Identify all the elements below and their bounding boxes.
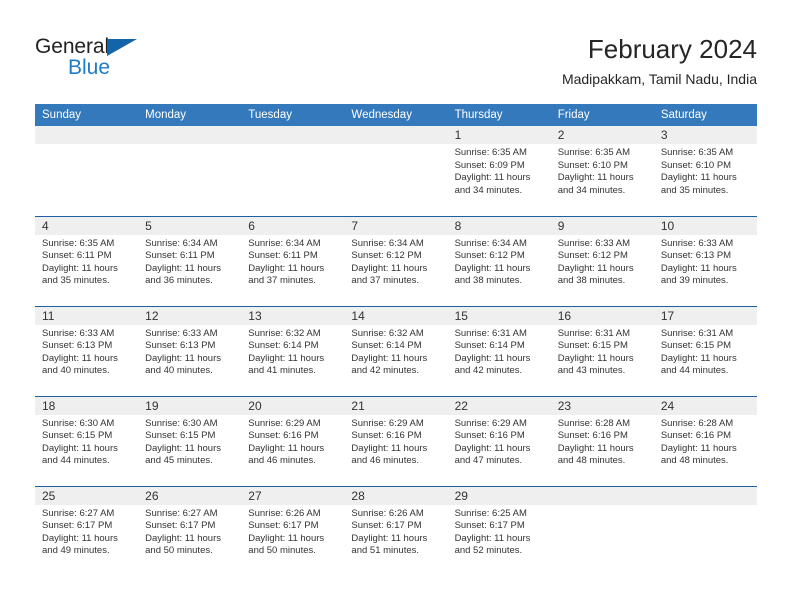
calendar-day-cell[interactable]: 22Sunrise: 6:29 AMSunset: 6:16 PMDayligh… (448, 396, 551, 486)
day-detail-sunset: Sunset: 6:17 PM (42, 520, 133, 533)
day-number: 28 (344, 487, 447, 505)
day-details: Sunrise: 6:34 AMSunset: 6:12 PMDaylight:… (344, 235, 447, 288)
day-details: Sunrise: 6:35 AMSunset: 6:09 PMDaylight:… (448, 144, 551, 197)
calendar-day-cell[interactable]: 19Sunrise: 6:30 AMSunset: 6:15 PMDayligh… (138, 396, 241, 486)
day-detail-sunset: Sunset: 6:17 PM (455, 520, 546, 533)
calendar-day-cell[interactable]: 11Sunrise: 6:33 AMSunset: 6:13 PMDayligh… (35, 306, 138, 396)
day-detail-daylight1: Daylight: 11 hours (661, 172, 752, 185)
calendar-table: SundayMondayTuesdayWednesdayThursdayFrid… (35, 104, 757, 576)
page-subtitle: Madipakkam, Tamil Nadu, India (562, 69, 757, 89)
day-details: Sunrise: 6:34 AMSunset: 6:12 PMDaylight:… (448, 235, 551, 288)
day-detail-daylight1: Daylight: 11 hours (351, 353, 442, 366)
day-detail-daylight1: Daylight: 11 hours (248, 533, 339, 546)
calendar-page: General Blue February 2024 Madipakkam, T… (0, 0, 792, 612)
day-detail-daylight1: Daylight: 11 hours (42, 533, 133, 546)
day-number: 5 (138, 217, 241, 235)
day-detail-daylight2: and 44 minutes. (661, 365, 752, 378)
calendar-day-cell[interactable]: 9Sunrise: 6:33 AMSunset: 6:12 PMDaylight… (551, 216, 654, 306)
day-details: Sunrise: 6:28 AMSunset: 6:16 PMDaylight:… (654, 415, 757, 468)
day-detail-daylight2: and 51 minutes. (351, 545, 442, 558)
day-details: Sunrise: 6:33 AMSunset: 6:13 PMDaylight:… (138, 325, 241, 378)
calendar-cell-empty (241, 126, 344, 216)
day-number: 10 (654, 217, 757, 235)
day-detail-daylight1: Daylight: 11 hours (558, 263, 649, 276)
weekday-header-thursday: Thursday (448, 104, 551, 126)
day-details: Sunrise: 6:30 AMSunset: 6:15 PMDaylight:… (35, 415, 138, 468)
calendar-day-cell[interactable]: 24Sunrise: 6:28 AMSunset: 6:16 PMDayligh… (654, 396, 757, 486)
day-number: 15 (448, 307, 551, 325)
day-detail-sunrise: Sunrise: 6:29 AM (455, 418, 546, 431)
day-number: 4 (35, 217, 138, 235)
day-details: Sunrise: 6:29 AMSunset: 6:16 PMDaylight:… (344, 415, 447, 468)
day-number (241, 126, 344, 144)
calendar-day-cell[interactable]: 28Sunrise: 6:26 AMSunset: 6:17 PMDayligh… (344, 486, 447, 576)
day-detail-daylight2: and 42 minutes. (351, 365, 442, 378)
day-detail-daylight2: and 46 minutes. (351, 455, 442, 468)
day-detail-daylight1: Daylight: 11 hours (145, 353, 236, 366)
day-detail-daylight1: Daylight: 11 hours (42, 353, 133, 366)
day-detail-daylight2: and 52 minutes. (455, 545, 546, 558)
day-detail-sunset: Sunset: 6:12 PM (558, 250, 649, 263)
day-detail-sunrise: Sunrise: 6:33 AM (42, 328, 133, 341)
day-details: Sunrise: 6:35 AMSunset: 6:11 PMDaylight:… (35, 235, 138, 288)
day-detail-sunrise: Sunrise: 6:31 AM (455, 328, 546, 341)
day-number: 25 (35, 487, 138, 505)
calendar-week-row: 1Sunrise: 6:35 AMSunset: 6:09 PMDaylight… (35, 126, 757, 216)
calendar-cell-empty (344, 126, 447, 216)
day-detail-daylight2: and 38 minutes. (558, 275, 649, 288)
day-detail-daylight1: Daylight: 11 hours (145, 533, 236, 546)
day-detail-daylight1: Daylight: 11 hours (351, 533, 442, 546)
day-detail-sunrise: Sunrise: 6:34 AM (145, 238, 236, 251)
day-detail-daylight2: and 48 minutes. (661, 455, 752, 468)
day-detail-sunrise: Sunrise: 6:34 AM (248, 238, 339, 251)
day-detail-daylight1: Daylight: 11 hours (248, 443, 339, 456)
day-number (138, 126, 241, 144)
calendar-day-cell[interactable]: 27Sunrise: 6:26 AMSunset: 6:17 PMDayligh… (241, 486, 344, 576)
day-detail-daylight2: and 44 minutes. (42, 455, 133, 468)
day-detail-sunset: Sunset: 6:12 PM (351, 250, 442, 263)
day-detail-sunset: Sunset: 6:11 PM (248, 250, 339, 263)
calendar-day-cell[interactable]: 1Sunrise: 6:35 AMSunset: 6:09 PMDaylight… (448, 126, 551, 216)
day-detail-sunset: Sunset: 6:13 PM (661, 250, 752, 263)
day-detail-daylight1: Daylight: 11 hours (558, 443, 649, 456)
day-detail-daylight1: Daylight: 11 hours (145, 263, 236, 276)
day-detail-sunrise: Sunrise: 6:32 AM (248, 328, 339, 341)
day-detail-sunrise: Sunrise: 6:30 AM (145, 418, 236, 431)
day-number: 6 (241, 217, 344, 235)
day-detail-daylight2: and 40 minutes. (42, 365, 133, 378)
calendar-day-cell[interactable]: 7Sunrise: 6:34 AMSunset: 6:12 PMDaylight… (344, 216, 447, 306)
day-detail-sunset: Sunset: 6:12 PM (455, 250, 546, 263)
day-detail-daylight2: and 35 minutes. (42, 275, 133, 288)
weekday-header-sunday: Sunday (35, 104, 138, 126)
day-detail-sunrise: Sunrise: 6:25 AM (455, 508, 546, 521)
calendar-day-cell[interactable]: 17Sunrise: 6:31 AMSunset: 6:15 PMDayligh… (654, 306, 757, 396)
day-number: 11 (35, 307, 138, 325)
day-detail-sunset: Sunset: 6:16 PM (351, 430, 442, 443)
day-number: 3 (654, 126, 757, 144)
day-detail-daylight2: and 39 minutes. (661, 275, 752, 288)
calendar-day-cell[interactable]: 2Sunrise: 6:35 AMSunset: 6:10 PMDaylight… (551, 126, 654, 216)
day-detail-daylight1: Daylight: 11 hours (558, 353, 649, 366)
calendar-day-cell[interactable]: 12Sunrise: 6:33 AMSunset: 6:13 PMDayligh… (138, 306, 241, 396)
day-detail-daylight2: and 47 minutes. (455, 455, 546, 468)
day-number: 22 (448, 397, 551, 415)
day-number: 14 (344, 307, 447, 325)
calendar-week-row: 11Sunrise: 6:33 AMSunset: 6:13 PMDayligh… (35, 306, 757, 396)
day-detail-sunrise: Sunrise: 6:26 AM (248, 508, 339, 521)
day-detail-sunset: Sunset: 6:11 PM (42, 250, 133, 263)
day-detail-sunrise: Sunrise: 6:32 AM (351, 328, 442, 341)
day-detail-daylight1: Daylight: 11 hours (455, 172, 546, 185)
day-detail-daylight2: and 41 minutes. (248, 365, 339, 378)
day-detail-daylight2: and 37 minutes. (351, 275, 442, 288)
day-detail-sunset: Sunset: 6:16 PM (558, 430, 649, 443)
day-detail-daylight2: and 43 minutes. (558, 365, 649, 378)
day-detail-sunrise: Sunrise: 6:35 AM (455, 147, 546, 160)
day-details: Sunrise: 6:33 AMSunset: 6:12 PMDaylight:… (551, 235, 654, 288)
day-detail-daylight1: Daylight: 11 hours (248, 353, 339, 366)
calendar-day-cell[interactable]: 13Sunrise: 6:32 AMSunset: 6:14 PMDayligh… (241, 306, 344, 396)
weekday-header-tuesday: Tuesday (241, 104, 344, 126)
page-header: General Blue February 2024 Madipakkam, T… (35, 33, 757, 95)
calendar-week-row: 18Sunrise: 6:30 AMSunset: 6:15 PMDayligh… (35, 396, 757, 486)
weekday-header-wednesday: Wednesday (344, 104, 447, 126)
page-title: February 2024 (562, 33, 757, 65)
day-number: 13 (241, 307, 344, 325)
day-number: 19 (138, 397, 241, 415)
calendar-week-row: 25Sunrise: 6:27 AMSunset: 6:17 PMDayligh… (35, 486, 757, 576)
calendar-day-cell[interactable]: 25Sunrise: 6:27 AMSunset: 6:17 PMDayligh… (35, 486, 138, 576)
day-detail-daylight1: Daylight: 11 hours (351, 443, 442, 456)
day-detail-sunrise: Sunrise: 6:35 AM (42, 238, 133, 251)
day-detail-daylight2: and 34 minutes. (455, 185, 546, 198)
day-detail-sunrise: Sunrise: 6:33 AM (145, 328, 236, 341)
day-detail-daylight1: Daylight: 11 hours (661, 353, 752, 366)
calendar-day-cell[interactable]: 6Sunrise: 6:34 AMSunset: 6:11 PMDaylight… (241, 216, 344, 306)
day-detail-daylight2: and 37 minutes. (248, 275, 339, 288)
logo-text-general: General (35, 36, 109, 57)
weekday-header-saturday: Saturday (654, 104, 757, 126)
day-detail-sunset: Sunset: 6:16 PM (455, 430, 546, 443)
day-detail-sunset: Sunset: 6:15 PM (42, 430, 133, 443)
day-detail-sunrise: Sunrise: 6:29 AM (351, 418, 442, 431)
day-detail-sunrise: Sunrise: 6:27 AM (145, 508, 236, 521)
day-detail-daylight1: Daylight: 11 hours (558, 172, 649, 185)
day-detail-daylight2: and 38 minutes. (455, 275, 546, 288)
day-detail-daylight2: and 50 minutes. (145, 545, 236, 558)
day-number: 27 (241, 487, 344, 505)
day-detail-daylight1: Daylight: 11 hours (351, 263, 442, 276)
day-number (344, 126, 447, 144)
day-detail-daylight2: and 50 minutes. (248, 545, 339, 558)
day-detail-sunset: Sunset: 6:17 PM (248, 520, 339, 533)
day-number: 24 (654, 397, 757, 415)
day-details: Sunrise: 6:29 AMSunset: 6:16 PMDaylight:… (241, 415, 344, 468)
day-detail-daylight1: Daylight: 11 hours (42, 443, 133, 456)
day-detail-daylight1: Daylight: 11 hours (455, 533, 546, 546)
day-details: Sunrise: 6:31 AMSunset: 6:15 PMDaylight:… (551, 325, 654, 378)
day-detail-sunrise: Sunrise: 6:29 AM (248, 418, 339, 431)
calendar-day-cell[interactable]: 20Sunrise: 6:29 AMSunset: 6:16 PMDayligh… (241, 396, 344, 486)
day-number (654, 487, 757, 505)
day-detail-daylight2: and 49 minutes. (42, 545, 133, 558)
day-detail-sunset: Sunset: 6:16 PM (661, 430, 752, 443)
calendar-day-cell[interactable]: 8Sunrise: 6:34 AMSunset: 6:12 PMDaylight… (448, 216, 551, 306)
day-detail-daylight1: Daylight: 11 hours (42, 263, 133, 276)
day-detail-sunrise: Sunrise: 6:28 AM (558, 418, 649, 431)
calendar-day-cell[interactable]: 14Sunrise: 6:32 AMSunset: 6:14 PMDayligh… (344, 306, 447, 396)
calendar-week-row: 4Sunrise: 6:35 AMSunset: 6:11 PMDaylight… (35, 216, 757, 306)
logo-text-blue: Blue (68, 57, 110, 78)
calendar-day-cell[interactable]: 4Sunrise: 6:35 AMSunset: 6:11 PMDaylight… (35, 216, 138, 306)
calendar-day-cell[interactable]: 23Sunrise: 6:28 AMSunset: 6:16 PMDayligh… (551, 396, 654, 486)
weekday-header-monday: Monday (138, 104, 241, 126)
calendar-day-cell[interactable]: 26Sunrise: 6:27 AMSunset: 6:17 PMDayligh… (138, 486, 241, 576)
day-detail-daylight2: and 35 minutes. (661, 185, 752, 198)
day-detail-sunrise: Sunrise: 6:31 AM (558, 328, 649, 341)
day-detail-sunrise: Sunrise: 6:35 AM (558, 147, 649, 160)
day-number: 20 (241, 397, 344, 415)
logo-triangle-icon (107, 39, 137, 56)
day-details: Sunrise: 6:34 AMSunset: 6:11 PMDaylight:… (138, 235, 241, 288)
day-details: Sunrise: 6:26 AMSunset: 6:17 PMDaylight:… (344, 505, 447, 558)
day-number: 17 (654, 307, 757, 325)
day-number: 2 (551, 126, 654, 144)
day-number: 18 (35, 397, 138, 415)
day-detail-sunset: Sunset: 6:09 PM (455, 160, 546, 173)
day-detail-sunset: Sunset: 6:11 PM (145, 250, 236, 263)
weekday-header-friday: Friday (551, 104, 654, 126)
day-number: 8 (448, 217, 551, 235)
day-number: 23 (551, 397, 654, 415)
calendar-day-cell[interactable]: 15Sunrise: 6:31 AMSunset: 6:14 PMDayligh… (448, 306, 551, 396)
day-detail-sunset: Sunset: 6:13 PM (145, 340, 236, 353)
day-number: 12 (138, 307, 241, 325)
calendar-day-cell[interactable]: 3Sunrise: 6:35 AMSunset: 6:10 PMDaylight… (654, 126, 757, 216)
day-details: Sunrise: 6:34 AMSunset: 6:11 PMDaylight:… (241, 235, 344, 288)
day-number: 16 (551, 307, 654, 325)
day-details: Sunrise: 6:26 AMSunset: 6:17 PMDaylight:… (241, 505, 344, 558)
day-detail-daylight1: Daylight: 11 hours (455, 353, 546, 366)
day-detail-sunrise: Sunrise: 6:26 AM (351, 508, 442, 521)
day-detail-sunset: Sunset: 6:10 PM (558, 160, 649, 173)
day-detail-sunset: Sunset: 6:14 PM (248, 340, 339, 353)
day-detail-daylight1: Daylight: 11 hours (248, 263, 339, 276)
day-details: Sunrise: 6:33 AMSunset: 6:13 PMDaylight:… (35, 325, 138, 378)
day-details: Sunrise: 6:33 AMSunset: 6:13 PMDaylight:… (654, 235, 757, 288)
calendar-day-cell[interactable]: 10Sunrise: 6:33 AMSunset: 6:13 PMDayligh… (654, 216, 757, 306)
day-detail-daylight2: and 42 minutes. (455, 365, 546, 378)
day-detail-daylight1: Daylight: 11 hours (455, 263, 546, 276)
calendar-cell-empty (551, 486, 654, 576)
day-details: Sunrise: 6:25 AMSunset: 6:17 PMDaylight:… (448, 505, 551, 558)
day-detail-sunset: Sunset: 6:14 PM (455, 340, 546, 353)
calendar-day-cell[interactable]: 21Sunrise: 6:29 AMSunset: 6:16 PMDayligh… (344, 396, 447, 486)
day-detail-daylight1: Daylight: 11 hours (455, 443, 546, 456)
day-details: Sunrise: 6:31 AMSunset: 6:15 PMDaylight:… (654, 325, 757, 378)
day-detail-daylight1: Daylight: 11 hours (661, 443, 752, 456)
day-detail-sunset: Sunset: 6:17 PM (145, 520, 236, 533)
day-details: Sunrise: 6:30 AMSunset: 6:15 PMDaylight:… (138, 415, 241, 468)
day-number: 1 (448, 126, 551, 144)
day-details: Sunrise: 6:27 AMSunset: 6:17 PMDaylight:… (138, 505, 241, 558)
day-number: 7 (344, 217, 447, 235)
day-number (551, 487, 654, 505)
day-number: 21 (344, 397, 447, 415)
day-details: Sunrise: 6:35 AMSunset: 6:10 PMDaylight:… (654, 144, 757, 197)
day-detail-sunrise: Sunrise: 6:35 AM (661, 147, 752, 160)
day-detail-sunrise: Sunrise: 6:27 AM (42, 508, 133, 521)
day-detail-sunset: Sunset: 6:10 PM (661, 160, 752, 173)
day-number (35, 126, 138, 144)
day-detail-daylight1: Daylight: 11 hours (145, 443, 236, 456)
calendar-cell-empty (138, 126, 241, 216)
day-detail-sunrise: Sunrise: 6:33 AM (558, 238, 649, 251)
calendar-header-row: SundayMondayTuesdayWednesdayThursdayFrid… (35, 104, 757, 126)
day-details: Sunrise: 6:31 AMSunset: 6:14 PMDaylight:… (448, 325, 551, 378)
day-detail-daylight2: and 36 minutes. (145, 275, 236, 288)
day-details: Sunrise: 6:35 AMSunset: 6:10 PMDaylight:… (551, 144, 654, 197)
day-number: 9 (551, 217, 654, 235)
day-detail-sunset: Sunset: 6:14 PM (351, 340, 442, 353)
calendar-cell-empty (654, 486, 757, 576)
day-number: 29 (448, 487, 551, 505)
day-detail-daylight1: Daylight: 11 hours (661, 263, 752, 276)
calendar-day-cell[interactable]: 5Sunrise: 6:34 AMSunset: 6:11 PMDaylight… (138, 216, 241, 306)
day-detail-sunset: Sunset: 6:17 PM (351, 520, 442, 533)
day-detail-daylight2: and 40 minutes. (145, 365, 236, 378)
day-detail-daylight2: and 34 minutes. (558, 185, 649, 198)
day-details: Sunrise: 6:29 AMSunset: 6:16 PMDaylight:… (448, 415, 551, 468)
day-details: Sunrise: 6:32 AMSunset: 6:14 PMDaylight:… (344, 325, 447, 378)
day-detail-sunset: Sunset: 6:16 PM (248, 430, 339, 443)
day-detail-sunset: Sunset: 6:15 PM (661, 340, 752, 353)
day-details: Sunrise: 6:28 AMSunset: 6:16 PMDaylight:… (551, 415, 654, 468)
day-detail-sunset: Sunset: 6:15 PM (558, 340, 649, 353)
title-block: February 2024 Madipakkam, Tamil Nadu, In… (562, 33, 757, 89)
day-detail-daylight2: and 48 minutes. (558, 455, 649, 468)
day-detail-sunrise: Sunrise: 6:33 AM (661, 238, 752, 251)
general-blue-logo[interactable]: General Blue (35, 33, 155, 81)
day-detail-sunset: Sunset: 6:15 PM (145, 430, 236, 443)
day-details: Sunrise: 6:27 AMSunset: 6:17 PMDaylight:… (35, 505, 138, 558)
calendar-cell-empty (35, 126, 138, 216)
day-detail-daylight2: and 46 minutes. (248, 455, 339, 468)
day-number: 26 (138, 487, 241, 505)
day-detail-sunrise: Sunrise: 6:34 AM (455, 238, 546, 251)
day-detail-daylight2: and 45 minutes. (145, 455, 236, 468)
day-detail-sunrise: Sunrise: 6:30 AM (42, 418, 133, 431)
calendar-body: 1Sunrise: 6:35 AMSunset: 6:09 PMDaylight… (35, 126, 757, 576)
day-details: Sunrise: 6:32 AMSunset: 6:14 PMDaylight:… (241, 325, 344, 378)
calendar-day-cell[interactable]: 18Sunrise: 6:30 AMSunset: 6:15 PMDayligh… (35, 396, 138, 486)
calendar-day-cell[interactable]: 29Sunrise: 6:25 AMSunset: 6:17 PMDayligh… (448, 486, 551, 576)
calendar-day-cell[interactable]: 16Sunrise: 6:31 AMSunset: 6:15 PMDayligh… (551, 306, 654, 396)
day-detail-sunrise: Sunrise: 6:28 AM (661, 418, 752, 431)
day-detail-sunrise: Sunrise: 6:31 AM (661, 328, 752, 341)
day-detail-sunset: Sunset: 6:13 PM (42, 340, 133, 353)
day-detail-sunrise: Sunrise: 6:34 AM (351, 238, 442, 251)
